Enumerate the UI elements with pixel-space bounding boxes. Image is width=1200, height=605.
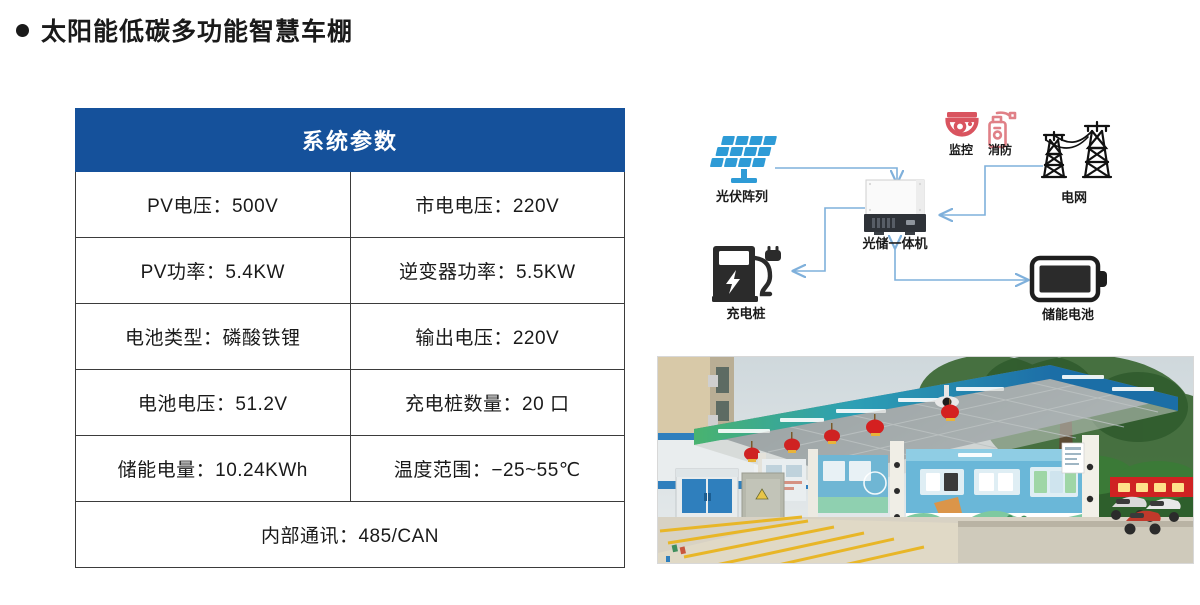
cell-pv-power: PV功率：5.4KW <box>76 238 351 304</box>
diagram-node-label: 充电桩 <box>726 306 765 321</box>
cell-storage-capacity: 储能电量：10.24KWh <box>76 436 351 502</box>
cctv-dome-camera-icon <box>947 112 977 134</box>
table-row: PV电压：500V 市电电压：220V <box>76 172 625 238</box>
diagram-node-power-grid[interactable]: 电网 <box>1042 122 1111 205</box>
solar-panel-icon <box>710 136 777 183</box>
table-row: 电池类型：磷酸铁锂 输出电压：220V <box>76 304 625 370</box>
battery-icon <box>1032 258 1107 300</box>
table-header-row: 系统参数 <box>76 109 625 172</box>
fire-extinguisher-icon <box>990 113 1016 147</box>
diagram-node-hybrid-inverter[interactable]: 光储一体机 <box>861 180 927 251</box>
cell-charger-count: 充电桩数量：20 口 <box>350 370 625 436</box>
diagram-node-label: 监控 <box>949 142 973 157</box>
table-header-title: 系统参数 <box>76 109 625 172</box>
connector-grid-to-inverter <box>940 166 1043 215</box>
diagram-node-label: 光伏阵列 <box>715 189 768 204</box>
connector-inverter-to-charger <box>793 208 865 271</box>
page-title-row: 太阳能低碳多功能智慧车棚 <box>16 12 353 48</box>
table-row: 储能电量：10.24KWh 温度范围：−25~55℃ <box>76 436 625 502</box>
system-architecture-diagram: 光伏阵列 监控 消防 <box>650 98 1195 348</box>
cell-inverter-power: 逆变器功率：5.5KW <box>350 238 625 304</box>
solar-carport-photo <box>657 356 1194 564</box>
table-row: 电池电压：51.2V 充电桩数量：20 口 <box>76 370 625 436</box>
ev-charging-pile-icon <box>712 246 781 302</box>
cell-battery-type: 电池类型：磷酸铁锂 <box>76 304 351 370</box>
cell-output-voltage: 输出电压：220V <box>350 304 625 370</box>
diagram-node-label: 储能电池 <box>1041 307 1094 322</box>
diagram-node-monitoring[interactable]: 监控 <box>947 112 977 157</box>
connector-inverter-to-battery <box>895 248 1028 280</box>
inverter-cabinet-icon <box>864 180 926 235</box>
transmission-tower-icon <box>1042 122 1111 177</box>
cell-temperature-range: 温度范围：−25~55℃ <box>350 436 625 502</box>
cell-pv-voltage: PV电压：500V <box>76 172 351 238</box>
diagram-node-fire-protection[interactable]: 消防 <box>988 113 1015 157</box>
bullet-icon <box>16 24 29 37</box>
page-title: 太阳能低碳多功能智慧车棚 <box>41 12 353 48</box>
diagram-node-storage-battery[interactable]: 储能电池 <box>1032 258 1107 322</box>
table-footer-row: 内部通讯：485/CAN <box>76 502 625 568</box>
diagram-node-pv-array[interactable]: 光伏阵列 <box>710 136 777 204</box>
table-row: PV功率：5.4KW 逆变器功率：5.5KW <box>76 238 625 304</box>
cell-grid-voltage: 市电电压：220V <box>350 172 625 238</box>
cell-internal-communication: 内部通讯：485/CAN <box>76 502 625 568</box>
diagram-node-label: 光储一体机 <box>861 236 927 251</box>
diagram-node-label: 消防 <box>988 142 1012 157</box>
system-parameters-table: 系统参数 PV电压：500V 市电电压：220V PV功率：5.4KW 逆变器功… <box>75 108 625 568</box>
diagram-node-label: 电网 <box>1061 190 1087 205</box>
diagram-node-charging-pile[interactable]: 充电桩 <box>712 246 781 321</box>
cell-battery-voltage: 电池电压：51.2V <box>76 370 351 436</box>
